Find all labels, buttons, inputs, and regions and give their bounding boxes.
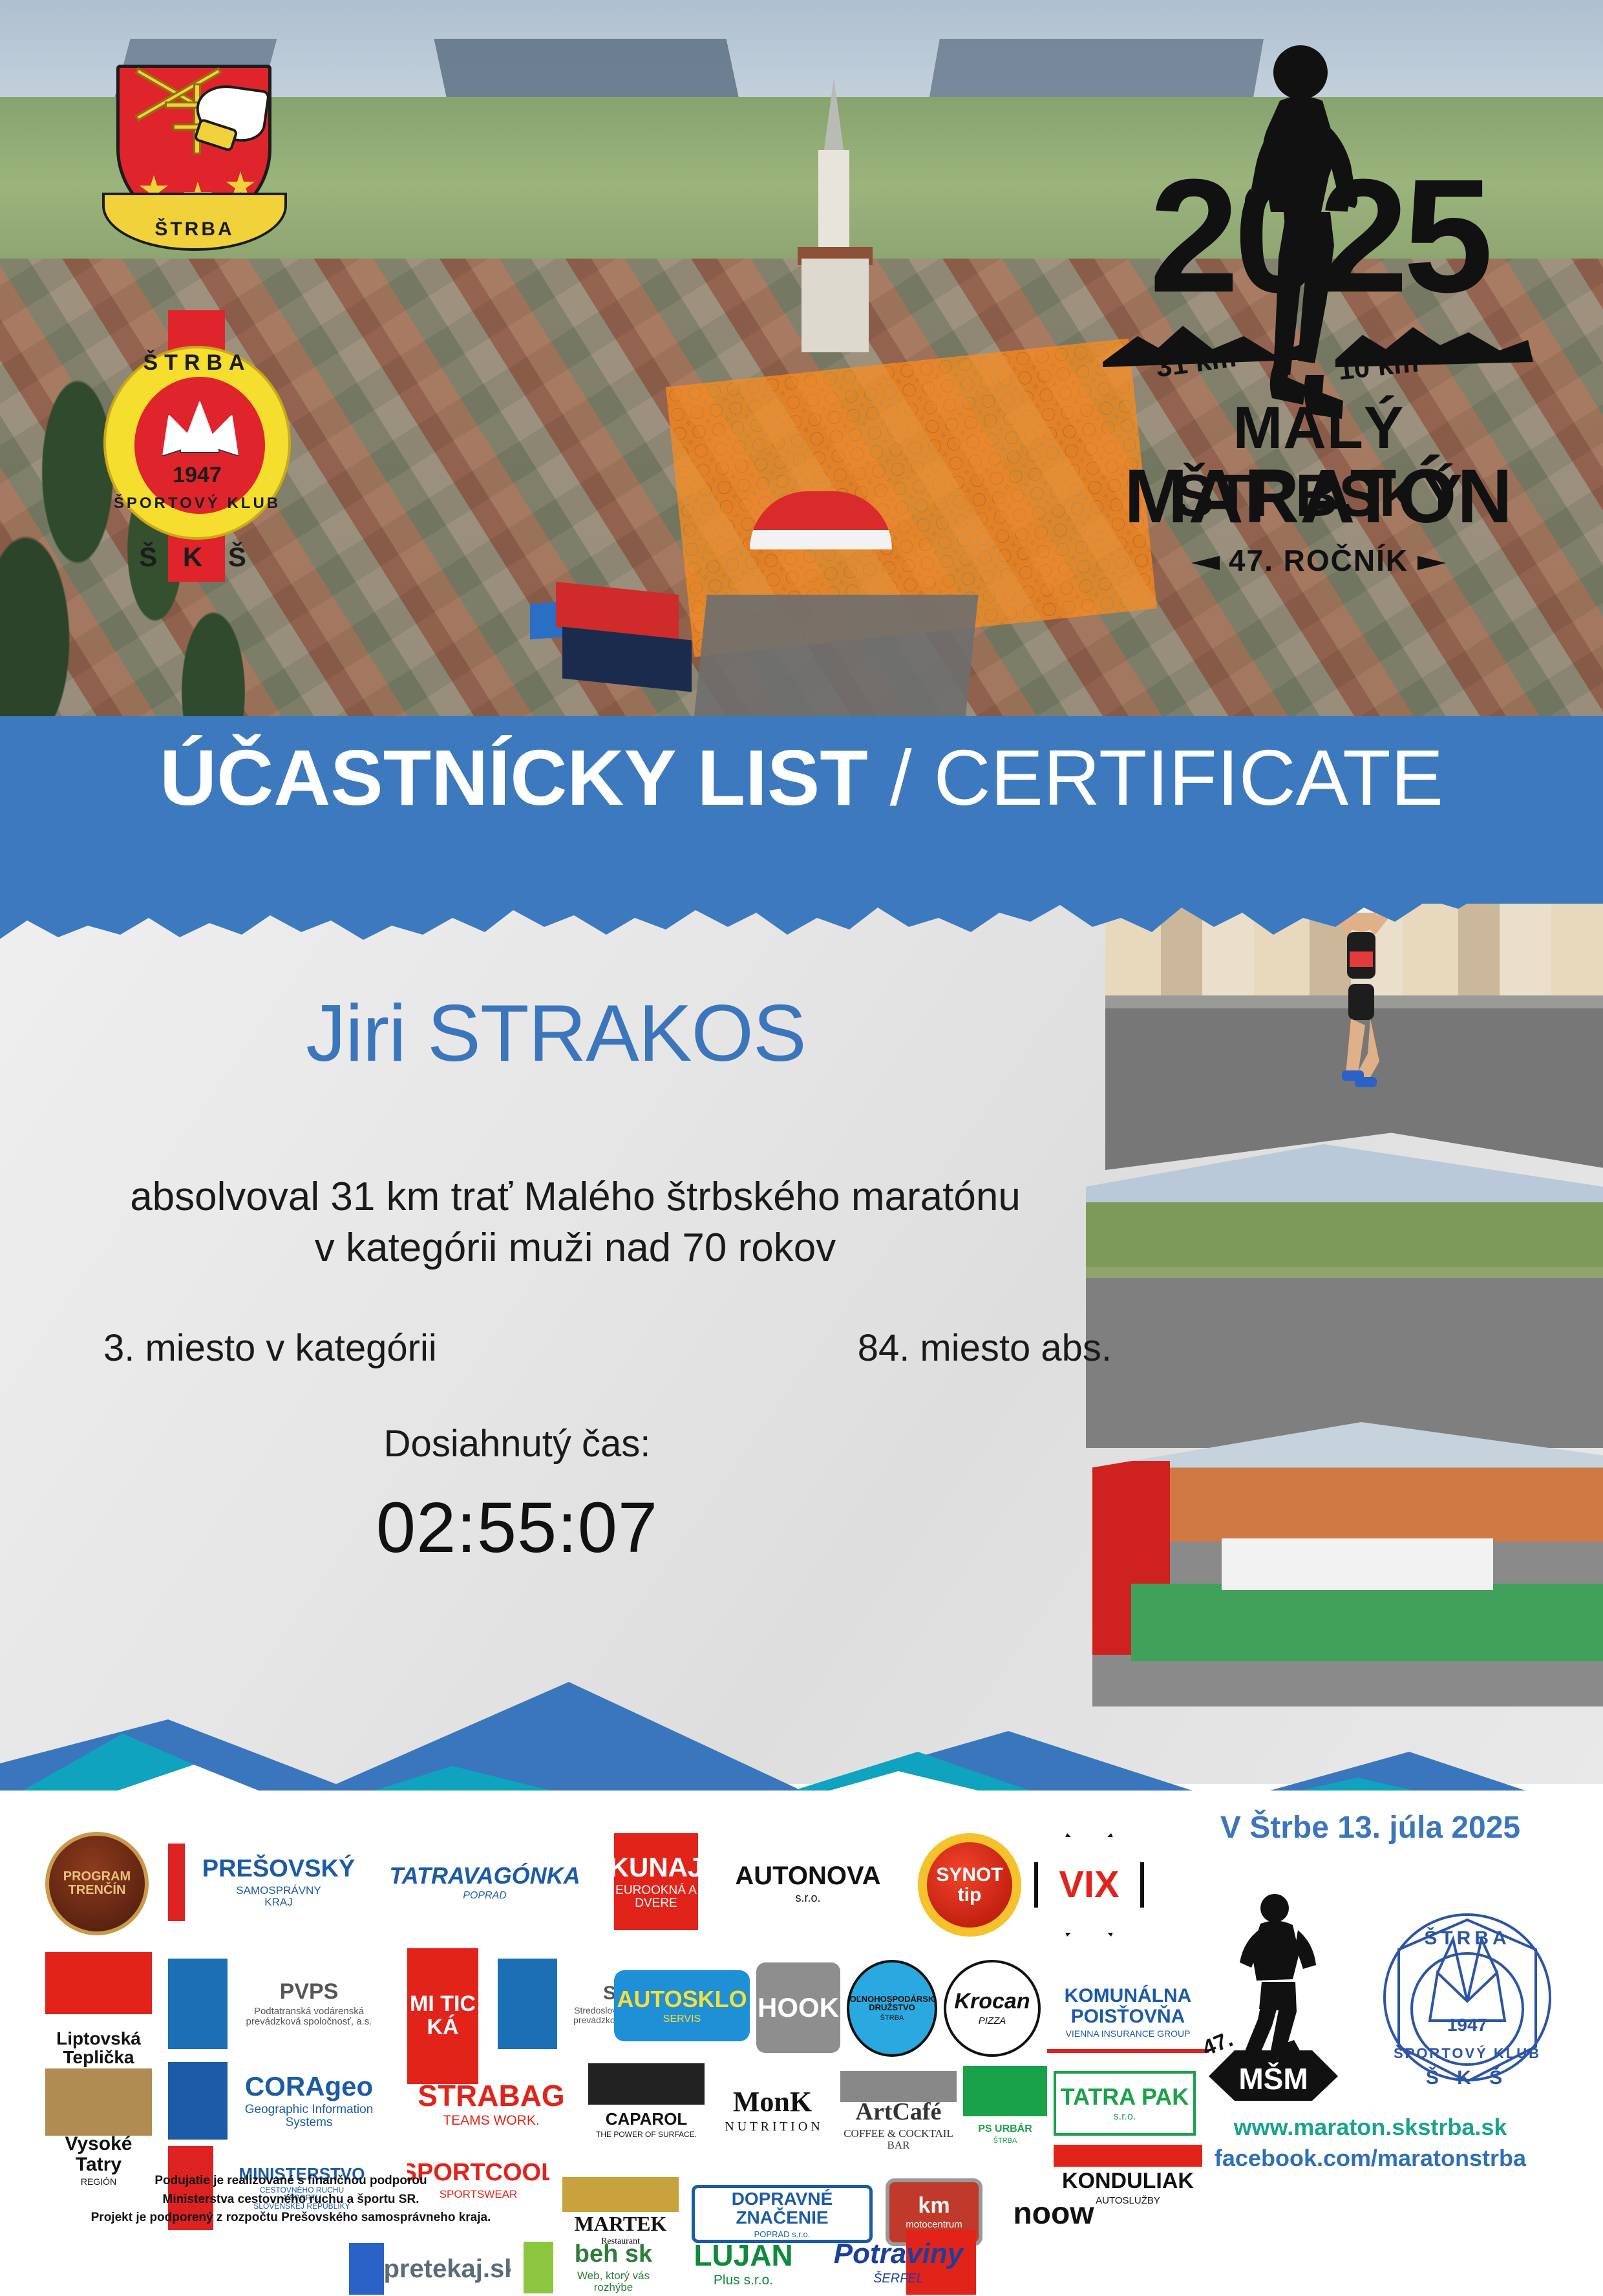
sponsor-name: Potraviny xyxy=(834,2239,964,2269)
event-title-logo: 2025 31 km 10 km MALÝ ŠTRBSKÝ MARATÓN 47… xyxy=(1086,32,1551,601)
hero-tents xyxy=(556,582,763,698)
place-in-category: 3. miesto v kategórii xyxy=(103,1326,437,1370)
sponsor-logo-autonova: AUTONOVAs.r.o. xyxy=(717,1834,898,1931)
description-line-1: absolvoval 31 km trať Malého štrbského m… xyxy=(0,1171,1151,1222)
photo-group-runners xyxy=(1086,1144,1603,1448)
sponsor-name: Krocan xyxy=(954,1990,1030,2014)
sponsor-name: VIX xyxy=(1059,1865,1120,1905)
sks-mark-top: ŠTRBA xyxy=(1424,1927,1510,1949)
strba-municipal-crest: ŠTRBA xyxy=(116,65,284,278)
torn-mountain-edge xyxy=(0,866,1603,950)
sks-mark-year: 1947 xyxy=(1447,2015,1487,2035)
sponsor-logo-kunaj: KUNAJEUROOKNÁ A DVERE xyxy=(614,1833,698,1930)
sponsor-name: CAPAROL xyxy=(606,2110,688,2128)
placement-row: 3. miesto v kategórii 84. miesto abs. xyxy=(103,1326,1112,1370)
sponsor-logo-monk-nutrition: MonKN U T R I T I O N xyxy=(711,2075,834,2146)
mountain-peaks-icon xyxy=(151,398,248,456)
sponsor-tagline: s.r.o. xyxy=(795,1892,820,1904)
sponsor-tagline: Plus s.r.o. xyxy=(714,2273,773,2288)
sponsor-name: MARTEK xyxy=(575,2213,667,2235)
sponsor-tagline: motocentrum xyxy=(906,2220,962,2230)
distance-31km: 31 km xyxy=(1154,341,1238,385)
sponsor-name: ArtCafé xyxy=(856,2099,942,2125)
club-logo-year: 1947 xyxy=(103,463,291,488)
arrow-right-icon xyxy=(1417,556,1456,570)
sponsor-tagline: EUROOKNÁ A DVERE xyxy=(614,1884,698,1910)
description-line-2: v kategórii muži nad 70 rokov xyxy=(0,1222,1151,1273)
certificate-description: absolvoval 31 km trať Malého štrbského m… xyxy=(0,1171,1151,1274)
participant-name: Jiri STRAKOS xyxy=(0,988,1112,1079)
sks-mark-curve: ŠPORTOVÝ KLUB xyxy=(1394,2045,1541,2061)
sponsor-logo-lujan-plus: LUJANPlus s.r.o. xyxy=(685,2231,801,2296)
sponsor-name: beh sk xyxy=(575,2242,652,2268)
sponsor-logo-martek: MARTEKRestaurant xyxy=(562,2177,679,2248)
sponsor-name: PVPS xyxy=(280,1981,339,2004)
sponsor-tagline: ŠTRBA xyxy=(993,2138,1017,2145)
sponsor-tagline: POPRAD xyxy=(463,1891,507,1902)
place-absolute: 84. miesto abs. xyxy=(858,1326,1112,1370)
sponsor-logo-strabag: STRABAGTEAMS WORK. xyxy=(407,2068,575,2140)
sponsor-logo-corageo: CORAgeoGeographic Information Systems xyxy=(168,2062,381,2140)
msm-mark-label: MŠM xyxy=(1238,2062,1308,2096)
sponsor-logo-miticka: MI TIC KÁ xyxy=(407,1948,478,2084)
sponsor-tagline: AUTOSLUŽBY xyxy=(1096,2196,1160,2206)
sponsor-name: KUNAJ xyxy=(614,1853,698,1882)
club-logo-bottom-text: Š K Š xyxy=(103,542,291,573)
sponsor-name: PROGRAM TRENČÍN xyxy=(49,1870,145,1897)
sponsor-name: POĽNOHOSPODÁRSKE DRUŽSTVO xyxy=(847,1995,937,2012)
footer-marks: MŠM 47. ŠTRBA 1947 ŠPORTOVÝ KLUB Š K Š xyxy=(1163,1875,1577,2107)
hero-church xyxy=(795,78,873,356)
sponsor-logo-beh-sk: beh skWeb, ktorý vás rozhýbe xyxy=(524,2242,666,2293)
sponsor-tagline: ŠTRBA xyxy=(880,2015,904,2023)
sks-mark-bottom: Š K Š xyxy=(1426,2067,1509,2089)
sponsor-logo-vysoke-tatry: Vysoké TatryREGIÓN xyxy=(45,2068,152,2185)
sponsor-logo-pd-strba: POĽNOHOSPODÁRSKE DRUŽSTVOŠTRBA xyxy=(847,1960,937,2057)
sponsor-tagline: s.r.o. xyxy=(1114,2112,1136,2123)
fineprint-line-1: Podujatie je realizované s finančnou pod… xyxy=(39,2172,543,2191)
event-edition-label: 47. ROČNÍK xyxy=(1229,544,1408,577)
sponsor-logo-pretekaj-sk: pretekaj.sk xyxy=(349,2243,511,2295)
sponsor-logo-synottip: SYNOT tip xyxy=(918,1833,1021,1937)
sponsor-name: pretekaj.sk xyxy=(383,2255,511,2282)
arrow-left-icon xyxy=(1181,556,1220,570)
sponsor-name: AUTONOVA xyxy=(735,1862,880,1889)
certificate-title-en: CERTIFICATE xyxy=(933,734,1443,822)
sks-club-stamp: ŠTRBA 1947 ŠPORTOVÝ KLUB Š K Š xyxy=(1370,1894,1564,2101)
photo-collage xyxy=(1086,860,1603,1706)
sponsor-tagline: N U T R I T I O N xyxy=(725,2120,820,2134)
sponsor-tagline: Podtatranská vodárenská prevádzková spol… xyxy=(246,2006,372,2027)
event-distances: 31 km 10 km xyxy=(1086,310,1551,388)
sponsor-name: noow xyxy=(1013,2198,1094,2230)
sponsor-logo-liptovska-teplicka: Liptovská Teplička xyxy=(45,1952,152,2081)
sponsor-tagline: TEAMS WORK. xyxy=(443,2114,539,2128)
sponsor-name: MI TIC KÁ xyxy=(407,1993,478,2039)
sponsor-tagline: Web, ktorý vás rozhýbe xyxy=(561,2270,666,2293)
sponsor-tagline: ŠERFEL xyxy=(873,2272,924,2286)
sponsor-footer: PROGRAM TRENČÍNPREŠOVSKÝSAMOSPRÁVNY KRAJ… xyxy=(0,1791,1603,2268)
crest-ribbon: ŠTRBA xyxy=(102,193,287,251)
sponsor-logo-krocan-pizza: KrocanPIZZA xyxy=(944,1960,1041,2057)
sponsor-logo-noow: noow xyxy=(1002,2185,1105,2243)
sponsor-name: MonK xyxy=(733,2087,812,2117)
sponsor-logo-tatravagonka: TATRAVAGÓNKAPOPRAD xyxy=(388,1844,582,1921)
event-date: V Štrbe 13. júla 2025 xyxy=(1163,1810,1577,1845)
msm-runner-mark: MŠM 47. xyxy=(1189,1887,1357,2101)
sponsor-name: DOPRAVNÉ ZNAČENIE xyxy=(695,2189,869,2227)
funding-fineprint: Podujatie je realizované s finančnou pod… xyxy=(39,2172,543,2227)
sponsor-logo-potraviny-serfel: PotravinyŠERFEL xyxy=(821,2230,976,2295)
sponsor-logo-vix: VIX xyxy=(1034,1833,1144,1937)
sponsor-tagline: Geographic Information Systems xyxy=(237,2103,381,2129)
sponsor-name: SYNOT tip xyxy=(927,1865,1012,1906)
sponsor-name: LUJAN xyxy=(694,2240,792,2271)
sponsor-logo-grid: PROGRAM TRENČÍNPREŠOVSKÝSAMOSPRÁVNY KRAJ… xyxy=(45,1797,1144,2211)
runner-silhouette-icon xyxy=(1233,39,1369,452)
sponsor-tagline: PIZZA xyxy=(979,2016,1006,2026)
sponsor-name: STRABAG xyxy=(418,2080,564,2111)
sponsor-name: PREŠOVSKÝ xyxy=(202,1856,356,1882)
event-edition-row: 47. ROČNÍK xyxy=(1086,543,1551,578)
sponsor-name: HOOK xyxy=(758,1993,839,2022)
finish-time-value: 02:55:07 xyxy=(0,1487,1034,1569)
sponsor-logo-ps-urbar-strba: PS URBÁRŠTRBA xyxy=(963,2066,1047,2153)
sponsor-logo-presovsky-kraj: PREŠOVSKÝSAMOSPRÁVNY KRAJ xyxy=(168,1844,362,1921)
finish-time-label: Dosiahnutý čas: xyxy=(0,1422,1034,1465)
sponsor-logo-hook: HOOK xyxy=(756,1962,840,2053)
sponsor-name: CORAgeo xyxy=(245,2072,373,2101)
club-logo-top-text: ŠTRBA xyxy=(103,350,291,376)
fineprint-line-2: Ministerstva cestovného ruchu a športu S… xyxy=(39,2191,543,2209)
sponsor-logo-program-trencin: PROGRAM TRENČÍN xyxy=(45,1832,149,1935)
certificate-title: ÚČASTNÍCKY LIST / CERTIFICATE xyxy=(0,738,1603,817)
sport-club-logo: ŠTRBA 1947 ŠPORTOVÝ KLUB Š K Š xyxy=(103,310,291,588)
website-link[interactable]: www.maraton.skstrba.sk xyxy=(1163,2114,1577,2141)
sponsor-tagline: SERVIS xyxy=(663,2014,701,2025)
event-name-line2: MARATÓN xyxy=(1086,452,1551,540)
sponsor-name: km xyxy=(918,2195,950,2218)
sponsor-name: Liptovská Teplička xyxy=(56,2029,141,2067)
sponsor-tagline: THE POWER OF SURFACE. xyxy=(596,2131,697,2139)
sponsor-name: Vysoké Tatry xyxy=(45,2134,152,2174)
sponsor-tagline: COFFEE & COCKTAIL BAR xyxy=(840,2128,957,2149)
sponsor-logo-pvps: PVPSPodtatranská vodárenská prevádzková … xyxy=(168,1959,381,2049)
sponsor-name: TATRAVAGÓNKA xyxy=(389,1864,580,1888)
facebook-link[interactable]: facebook.com/maratonstrba xyxy=(1163,2145,1577,2172)
sponsor-logo-caparol: CAPAROLTHE POWER OF SURFACE. xyxy=(588,2063,705,2144)
crest-ribbon-label: ŠTRBA xyxy=(105,218,284,240)
certificate-title-sep: / xyxy=(868,734,934,822)
sponsor-name: AUTOSKLO xyxy=(617,1987,747,2012)
sponsor-tagline: SAMOSPRÁVNY KRAJ xyxy=(236,1885,321,1908)
fineprint-line-3: Projekt je podporený z rozpočtu Prešovsk… xyxy=(39,2209,543,2227)
sponsor-logo-autosklo-servis: AUTOSKLOSERVIS xyxy=(614,1970,750,2041)
certificate-title-sk: ÚČASTNÍCKY LIST xyxy=(160,734,868,822)
club-logo-curve-text: ŠPORTOVÝ KLUB xyxy=(103,494,291,513)
sponsor-logo-artcafe: ArtCaféCOFFEE & COCKTAIL BAR xyxy=(840,2071,957,2149)
distance-10km: 10 km xyxy=(1337,346,1420,387)
sponsor-name: PS URBÁR xyxy=(978,2124,1032,2135)
